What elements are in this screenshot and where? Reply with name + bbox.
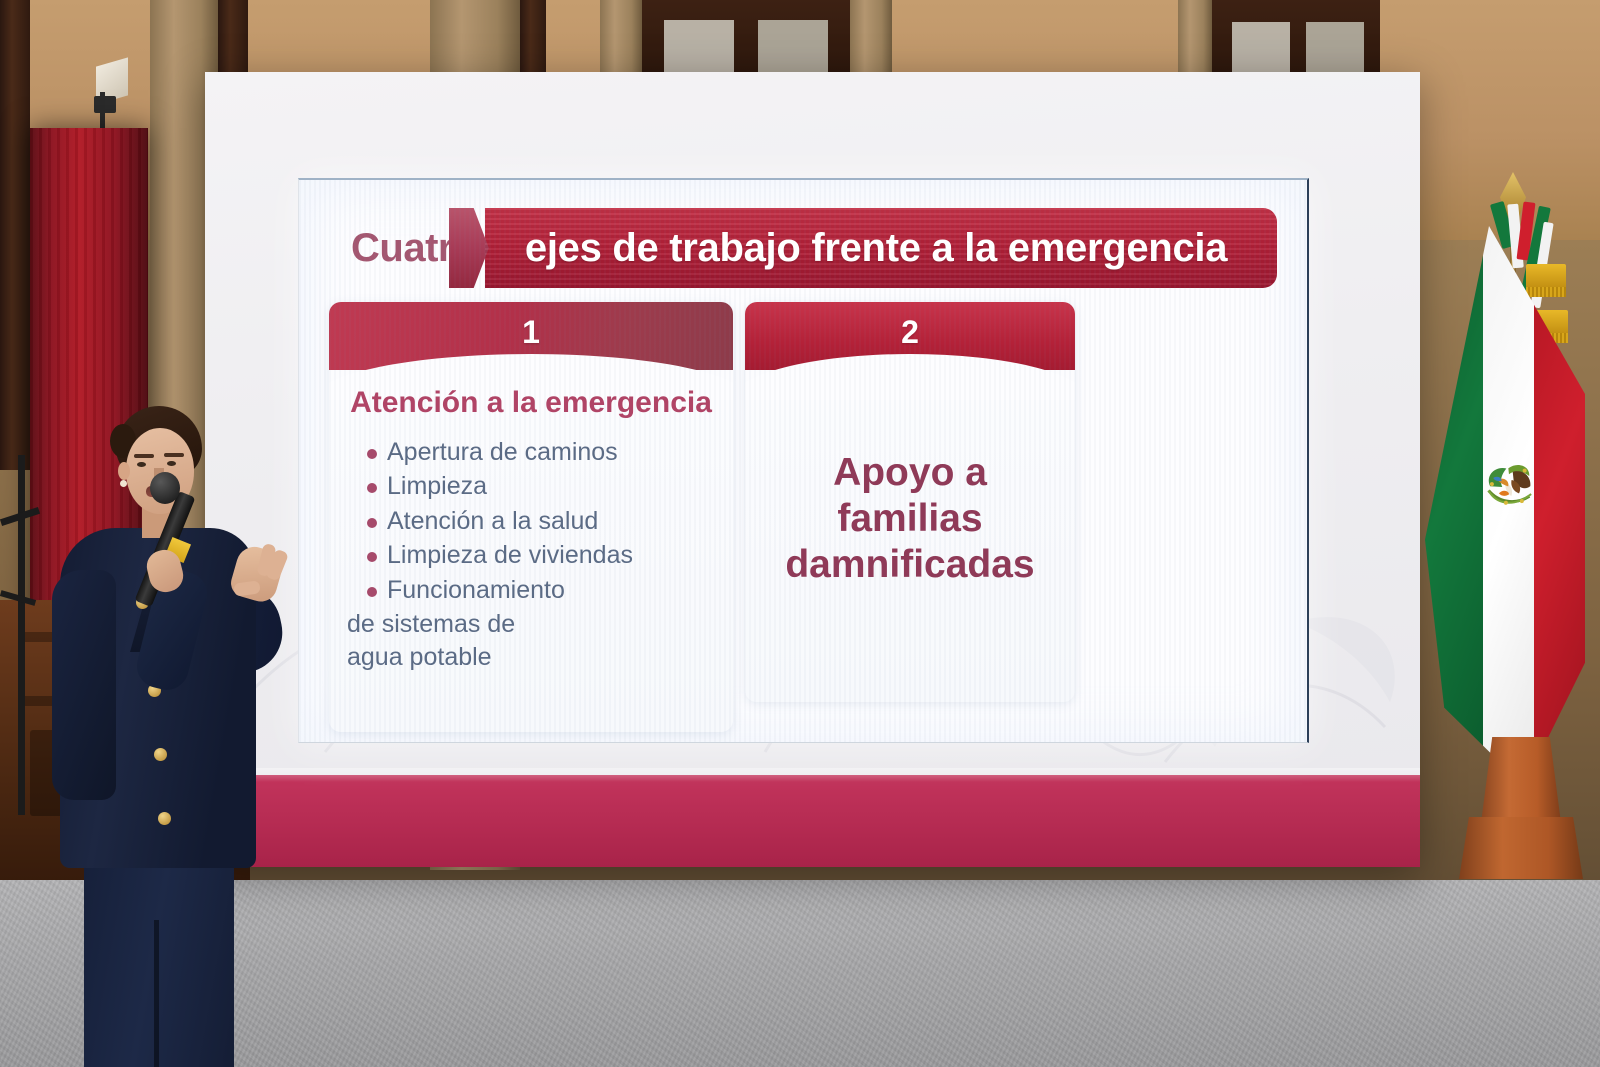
axis-card-1[interactable]: 1 Atención a la emergencia Apertura de c… <box>329 302 733 732</box>
press-conference-scene: Cuatro ejes de trabajo frente a la emerg… <box>0 0 1600 1067</box>
background-door-2 <box>1210 0 1380 80</box>
presentation-slide: Cuatro ejes de trabajo frente a la emerg… <box>299 180 1307 742</box>
flag-green-stripe <box>1425 226 1483 786</box>
axis-card-1-bullet-list: Apertura de caminos Limpieza Atención a … <box>347 436 715 607</box>
axis-card-1-title: Atención a la emergencia <box>347 386 715 420</box>
stage-lamp-arm <box>100 92 105 132</box>
backdrop-crimson-band <box>205 775 1420 867</box>
jacket-button-3 <box>154 748 167 761</box>
slide-title-row: Cuatro ejes de trabajo frente a la emerg… <box>329 208 1277 288</box>
speaker-brow-right <box>164 453 184 457</box>
list-item: Limpieza <box>365 470 715 503</box>
stone-pilaster-2 <box>850 0 892 80</box>
title-banner-text: ejes de trabajo frente a la emergencia <box>525 226 1227 271</box>
axis-card-1-body: Atención a la emergencia Apertura de cam… <box>329 370 733 673</box>
axis-card-2[interactable]: 2 Apoyo a familias damnificadas <box>745 302 1075 702</box>
speaker-left-arm <box>52 570 116 800</box>
speaker <box>38 400 278 960</box>
stone-pilaster-3 <box>1178 0 1212 80</box>
speaker-brow-left <box>134 454 154 458</box>
list-item: Funcionamiento <box>365 574 715 607</box>
projection-screen: Cuatro ejes de trabajo frente a la emerg… <box>298 178 1309 743</box>
list-item: Atención a la salud <box>365 505 715 538</box>
axis-card-2-title: Apoyo a familias damnificadas <box>763 450 1057 588</box>
speaker-eye-left <box>137 462 146 467</box>
speaker-eye-right <box>167 461 176 466</box>
stone-pilaster-1 <box>600 0 642 80</box>
axis-card-2-number: 2 <box>901 302 919 348</box>
flag-base-tier-bottom <box>1459 817 1583 879</box>
axis-card-2-body: Apoyo a familias damnificadas <box>745 370 1075 588</box>
axis-card-1-continuation-line-1: de sistemas de <box>347 608 715 641</box>
list-item: Limpieza de viviendas <box>365 539 715 572</box>
speaker-earring <box>120 480 127 487</box>
speaker-legs <box>84 855 234 1067</box>
axis-card-1-continuation-line-2: agua potable <box>347 641 715 674</box>
coat-of-arms-icon <box>1477 454 1546 512</box>
background-door-1 <box>640 0 860 80</box>
slide-cards: 1 Atención a la emergencia Apertura de c… <box>329 302 1277 732</box>
speaker-ear <box>118 462 130 480</box>
flag-wooden-base <box>1457 737 1585 885</box>
list-item: Apertura de caminos <box>365 436 715 469</box>
stage-lamp-housing <box>94 96 116 113</box>
wood-column-left <box>0 0 30 470</box>
speaker-leg-split <box>154 920 159 1067</box>
flag-tassel-upper <box>1526 264 1566 288</box>
axis-card-1-header: 1 <box>329 302 733 370</box>
title-banner: ejes de trabajo frente a la emergencia <box>485 208 1277 288</box>
jacket-button-4 <box>158 812 171 825</box>
flag-base-tier-top <box>1481 737 1561 823</box>
axis-card-2-header: 2 <box>745 302 1075 370</box>
axis-card-1-number: 1 <box>522 302 540 348</box>
microphone-head-icon <box>150 472 180 504</box>
